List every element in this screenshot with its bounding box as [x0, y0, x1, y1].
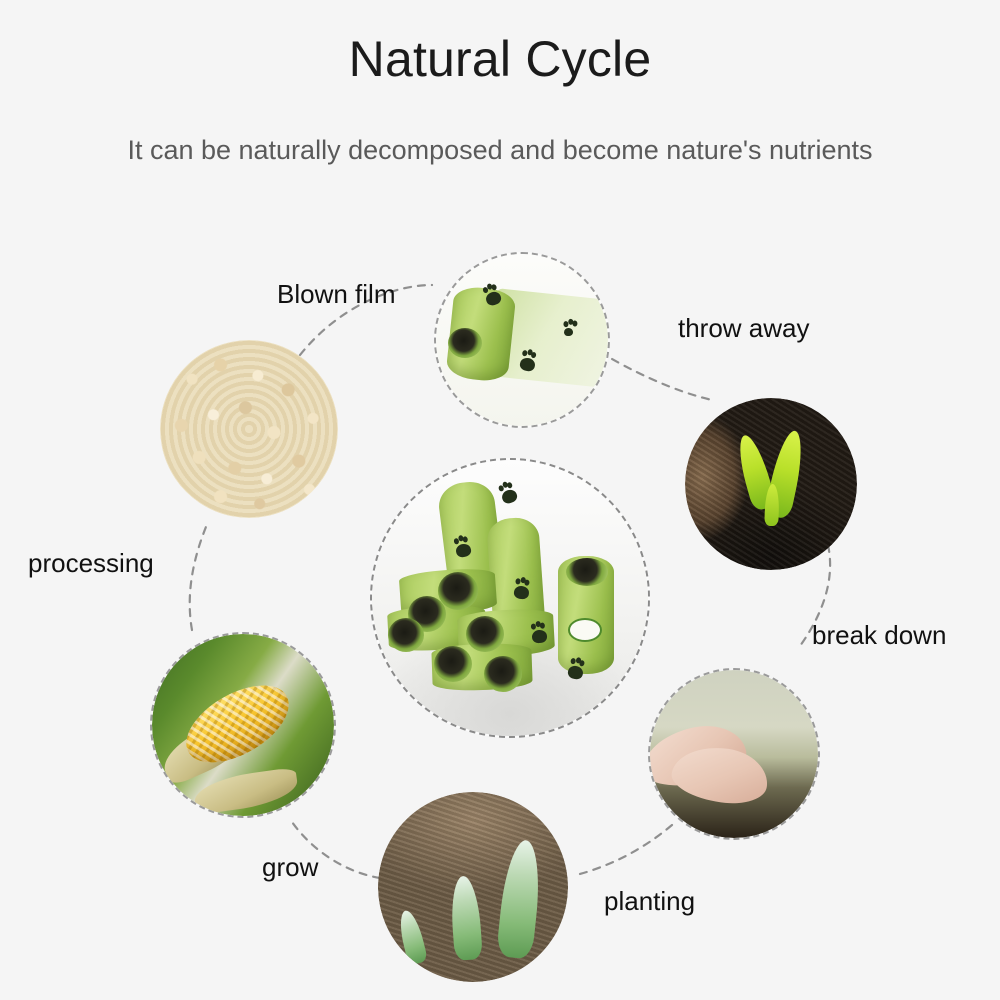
- roll-end: [388, 618, 424, 652]
- connector-grow-to-processing: [190, 522, 208, 630]
- page-subtitle: It can be naturally decomposed and becom…: [0, 133, 1000, 167]
- connector-breakdown-to-planting: [580, 825, 672, 874]
- soil-falling: [722, 766, 808, 830]
- sprout: [396, 908, 428, 965]
- roll-end: [484, 656, 522, 692]
- processing-image: [160, 340, 338, 518]
- node-break-down: [648, 668, 820, 840]
- label-blown-film: Blown film: [277, 279, 395, 309]
- roll-end: [448, 328, 482, 358]
- label-processing: processing: [28, 548, 154, 578]
- roll-end: [566, 558, 608, 586]
- node-throw-away: [685, 398, 857, 570]
- label-throw-away: throw away: [678, 313, 810, 343]
- center-product-image: [372, 460, 648, 736]
- sprout: [449, 875, 483, 961]
- grow-image: [152, 634, 334, 816]
- sprout: [496, 838, 544, 959]
- node-planting: [378, 792, 568, 982]
- corn-husk: [192, 767, 300, 815]
- break-down-image: [650, 670, 818, 838]
- roll-end: [466, 616, 504, 652]
- node-blown-film: [434, 252, 610, 428]
- node-grow: [150, 632, 336, 818]
- label-planting: planting: [604, 886, 695, 916]
- connector-blownfilm-to-throwaway: [600, 352, 712, 400]
- label-grow: grow: [262, 852, 318, 882]
- roll-end: [438, 572, 478, 610]
- eco-badge-icon: [568, 618, 602, 642]
- roll-end: [434, 646, 472, 682]
- page-title: Natural Cycle: [0, 30, 1000, 88]
- paw-print-icon: [500, 488, 519, 505]
- throw-away-image: [685, 398, 857, 570]
- natural-cycle-infographic: Natural Cycle It can be naturally decomp…: [0, 0, 1000, 1000]
- planting-image: [378, 792, 568, 982]
- center-product-node: [370, 458, 650, 738]
- node-processing: [160, 340, 338, 518]
- blown-film-image: [436, 254, 608, 426]
- label-break-down: break down: [812, 620, 946, 650]
